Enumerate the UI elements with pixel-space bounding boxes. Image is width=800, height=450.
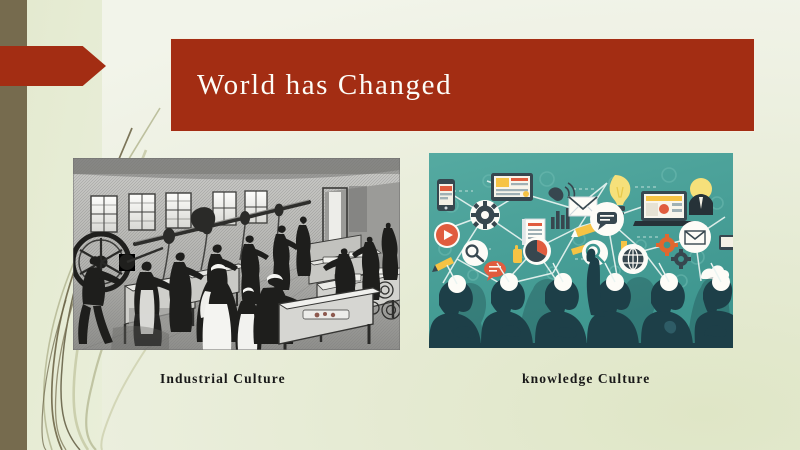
knowledge-network-illustration xyxy=(429,153,733,348)
envelope-node-icon xyxy=(679,221,711,253)
globe-icon xyxy=(618,244,648,274)
monitor-right-icon xyxy=(719,235,733,250)
chat-bubble-node-icon xyxy=(590,202,624,236)
gear-icon xyxy=(470,200,500,230)
smartphone-icon xyxy=(437,179,455,211)
tablet-icon xyxy=(491,173,533,201)
pie-chart-icon xyxy=(523,237,551,265)
caption-knowledge: knowledge Culture xyxy=(522,371,650,387)
title-banner: World has Changed xyxy=(170,38,755,132)
magnifier-icon xyxy=(462,240,488,266)
page-title: World has Changed xyxy=(171,71,452,100)
play-button-icon xyxy=(434,222,460,248)
caption-industrial: Industrial Culture xyxy=(160,371,286,387)
slide-canvas: World has Changed xyxy=(0,0,800,450)
industrial-factory-engraving xyxy=(73,158,400,350)
